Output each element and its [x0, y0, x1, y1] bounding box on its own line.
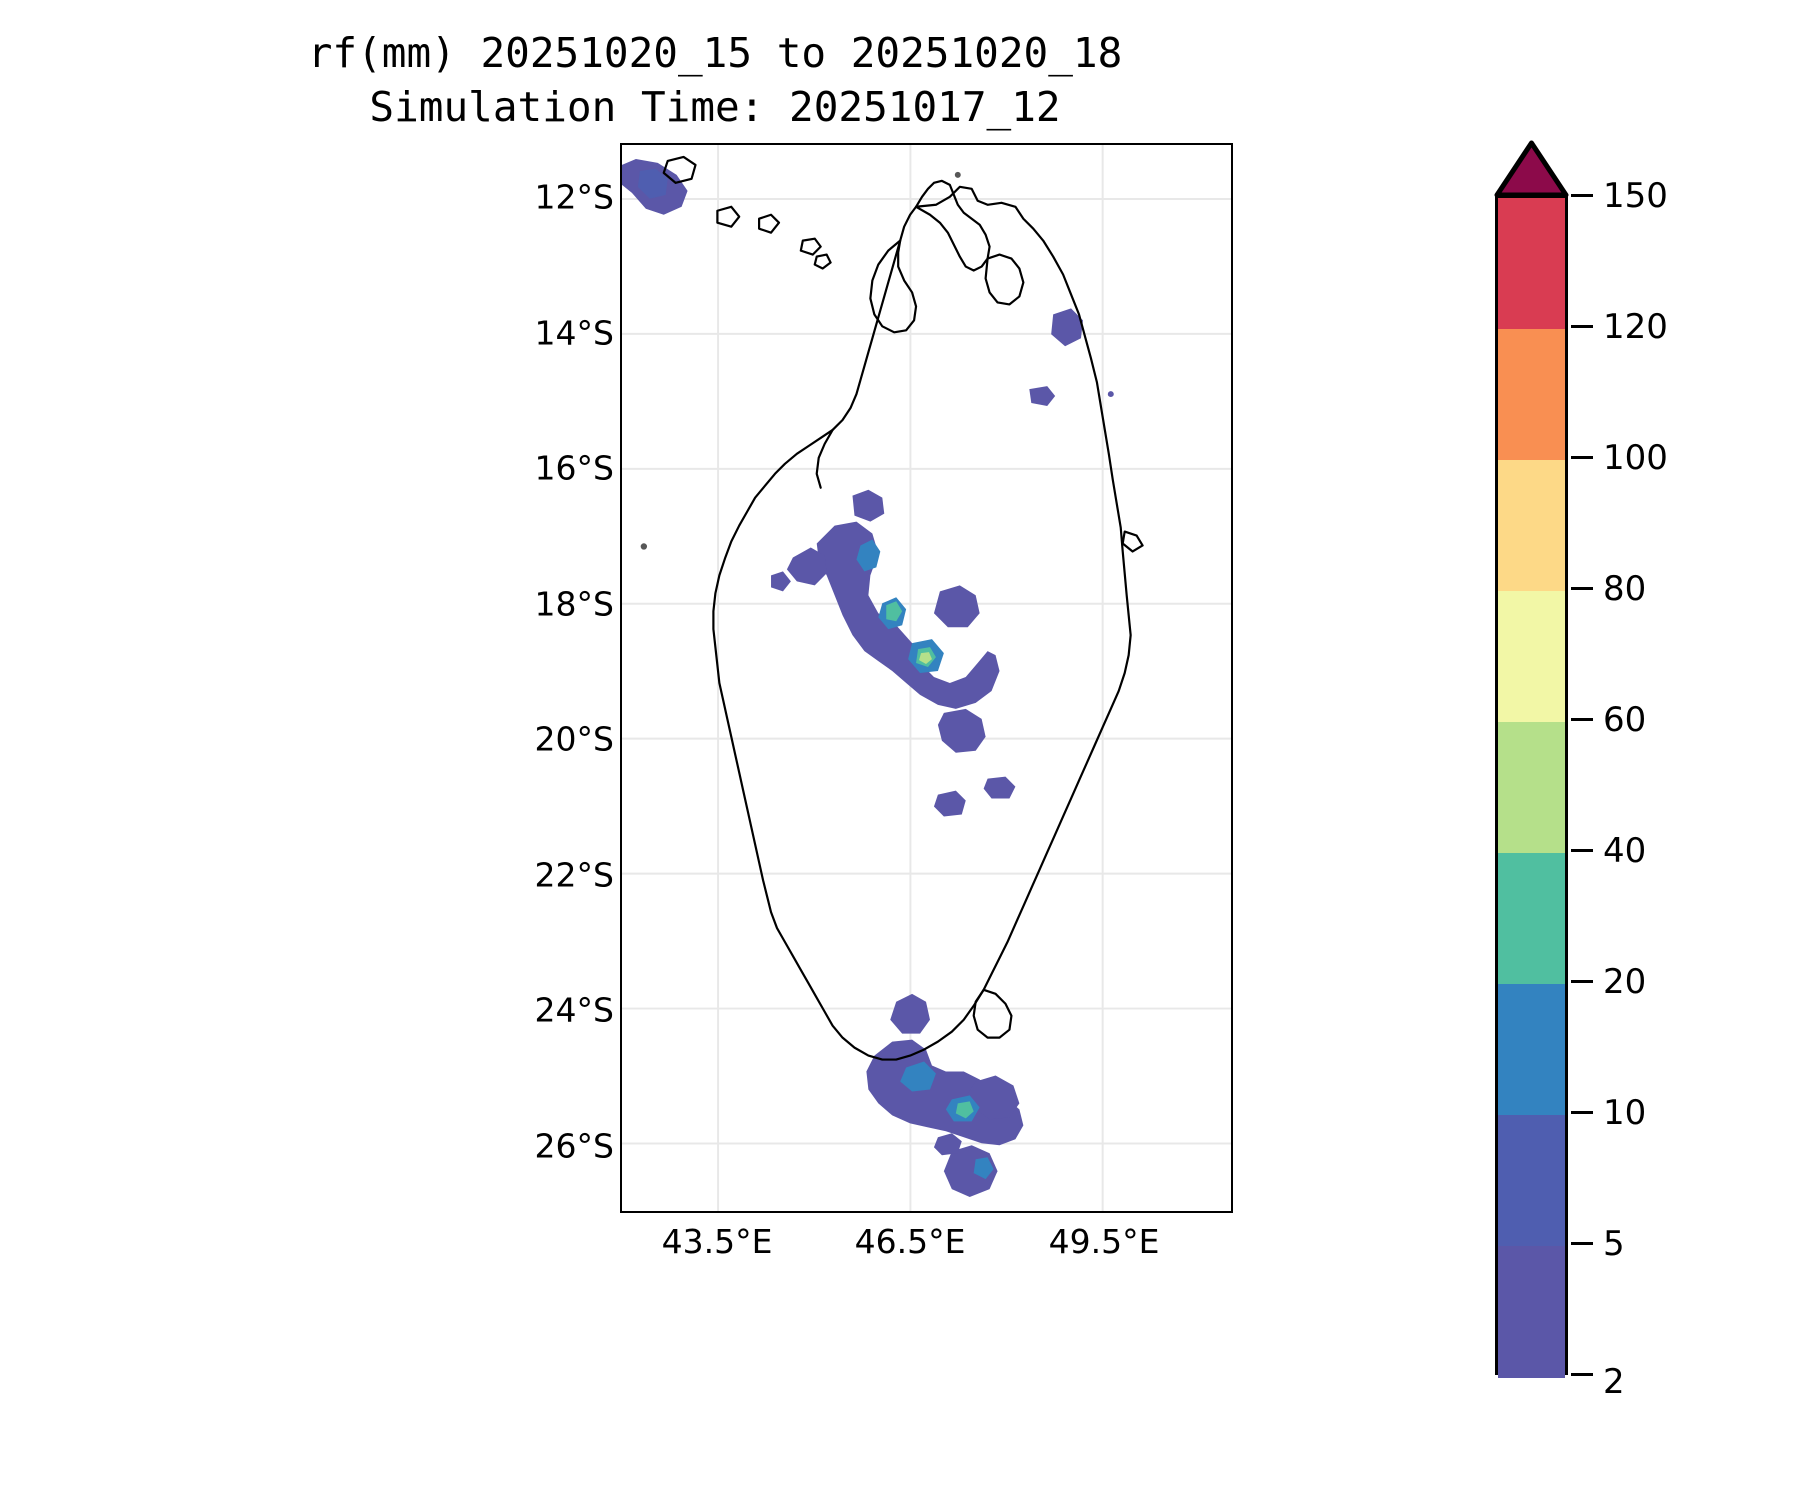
rain-speck-w1 [641, 543, 647, 549]
xtick-label-495e: 49.5°E [1049, 1222, 1160, 1261]
cbar-tick-20 [1571, 980, 1593, 983]
chart-title: rf(mm) 20251020_15 to 20251020_18 Simula… [0, 26, 1430, 134]
cbar-label-100: 100 [1603, 438, 1668, 478]
cbar-tick-100 [1571, 456, 1593, 459]
xtick-label-465e: 46.5°E [855, 1222, 966, 1261]
cbar-tick-40 [1571, 849, 1593, 852]
colorbar-extend-arrow [1494, 140, 1569, 198]
island-nw-2 [717, 207, 739, 227]
northeast-bay [986, 255, 1024, 305]
cbar-band-120-150 [1498, 198, 1565, 329]
ytick-label-14s: 14°S [535, 314, 614, 353]
cbar-label-120: 120 [1603, 307, 1668, 347]
cbar-label-5: 5 [1603, 1224, 1625, 1264]
rain-patch-20s-b [984, 777, 1016, 799]
ytick-label-20s: 20°S [535, 720, 614, 759]
rain-speck-e1 [1029, 386, 1055, 406]
rain-patch-se-south-tail [934, 1133, 962, 1155]
cbar-tick-5 [1571, 1242, 1593, 1245]
cbar-tick-80 [1571, 587, 1593, 590]
cbar-tick-60 [1571, 718, 1593, 721]
northern-peninsula [916, 181, 990, 271]
rain-speck-e2 [1108, 391, 1114, 397]
cbar-label-10: 10 [1603, 1093, 1646, 1133]
cbar-tick-10 [1571, 1111, 1593, 1114]
cbar-label-150: 150 [1603, 176, 1668, 216]
title-line-1: rf(mm) 20251020_15 to 20251020_18 [0, 26, 1430, 80]
ytick-label-26s: 26°S [535, 1127, 614, 1166]
cbar-label-2: 2 [1603, 1362, 1625, 1402]
rain-patch-central-south [938, 709, 986, 753]
rain-patch-20s-a [934, 791, 966, 817]
ytick-label-16s: 16°S [535, 449, 614, 488]
ytick-label-18s: 18°S [535, 585, 614, 624]
xtick-label-435e: 43.5°E [662, 1222, 773, 1261]
cbar-band-60-80 [1498, 591, 1565, 722]
cbar-label-40: 40 [1603, 831, 1646, 871]
map-plot-area [620, 143, 1233, 1213]
island-se-1 [1123, 532, 1143, 552]
cbar-band-100-120 [1498, 329, 1565, 460]
island-nw-4 [801, 239, 821, 255]
ytick-label-22s: 22°S [535, 856, 614, 895]
rain-patch-central-top [852, 490, 884, 522]
cbar-band-5-10 [1498, 1115, 1565, 1246]
cbar-label-60: 60 [1603, 700, 1646, 740]
colorbar: 150 120 100 80 60 40 20 10 5 2 [1495, 140, 1800, 1385]
cbar-band-80-100 [1498, 460, 1565, 591]
map-svg [622, 145, 1231, 1211]
rain-patch-central-specks [771, 571, 791, 591]
cbar-band-10-20 [1498, 984, 1565, 1115]
southeast-tip [974, 990, 1012, 1038]
rain-patch-se-upper [890, 994, 930, 1034]
rain-speck-n1 [955, 172, 961, 178]
island-nw-3 [759, 215, 779, 233]
rain-patch-central-east [934, 585, 980, 627]
island-nw-5 [815, 255, 831, 269]
cbar-band-2-5 [1498, 1246, 1565, 1378]
cbar-tick-120 [1571, 325, 1593, 328]
ytick-label-24s: 24°S [535, 991, 614, 1030]
title-line-2: Simulation Time: 20251017_12 [0, 80, 1430, 134]
cbar-band-20-40 [1498, 853, 1565, 984]
northwest-bay [870, 241, 916, 333]
cbar-label-80: 80 [1603, 569, 1646, 609]
ytick-label-12s: 12°S [535, 178, 614, 217]
rainfall-field [622, 159, 1114, 1197]
colorbar-bands [1495, 195, 1568, 1375]
cbar-tick-2 [1571, 1373, 1593, 1376]
cbar-tick-150 [1571, 194, 1593, 197]
cbar-label-20: 20 [1603, 962, 1646, 1002]
cbar-band-40-60 [1498, 722, 1565, 853]
